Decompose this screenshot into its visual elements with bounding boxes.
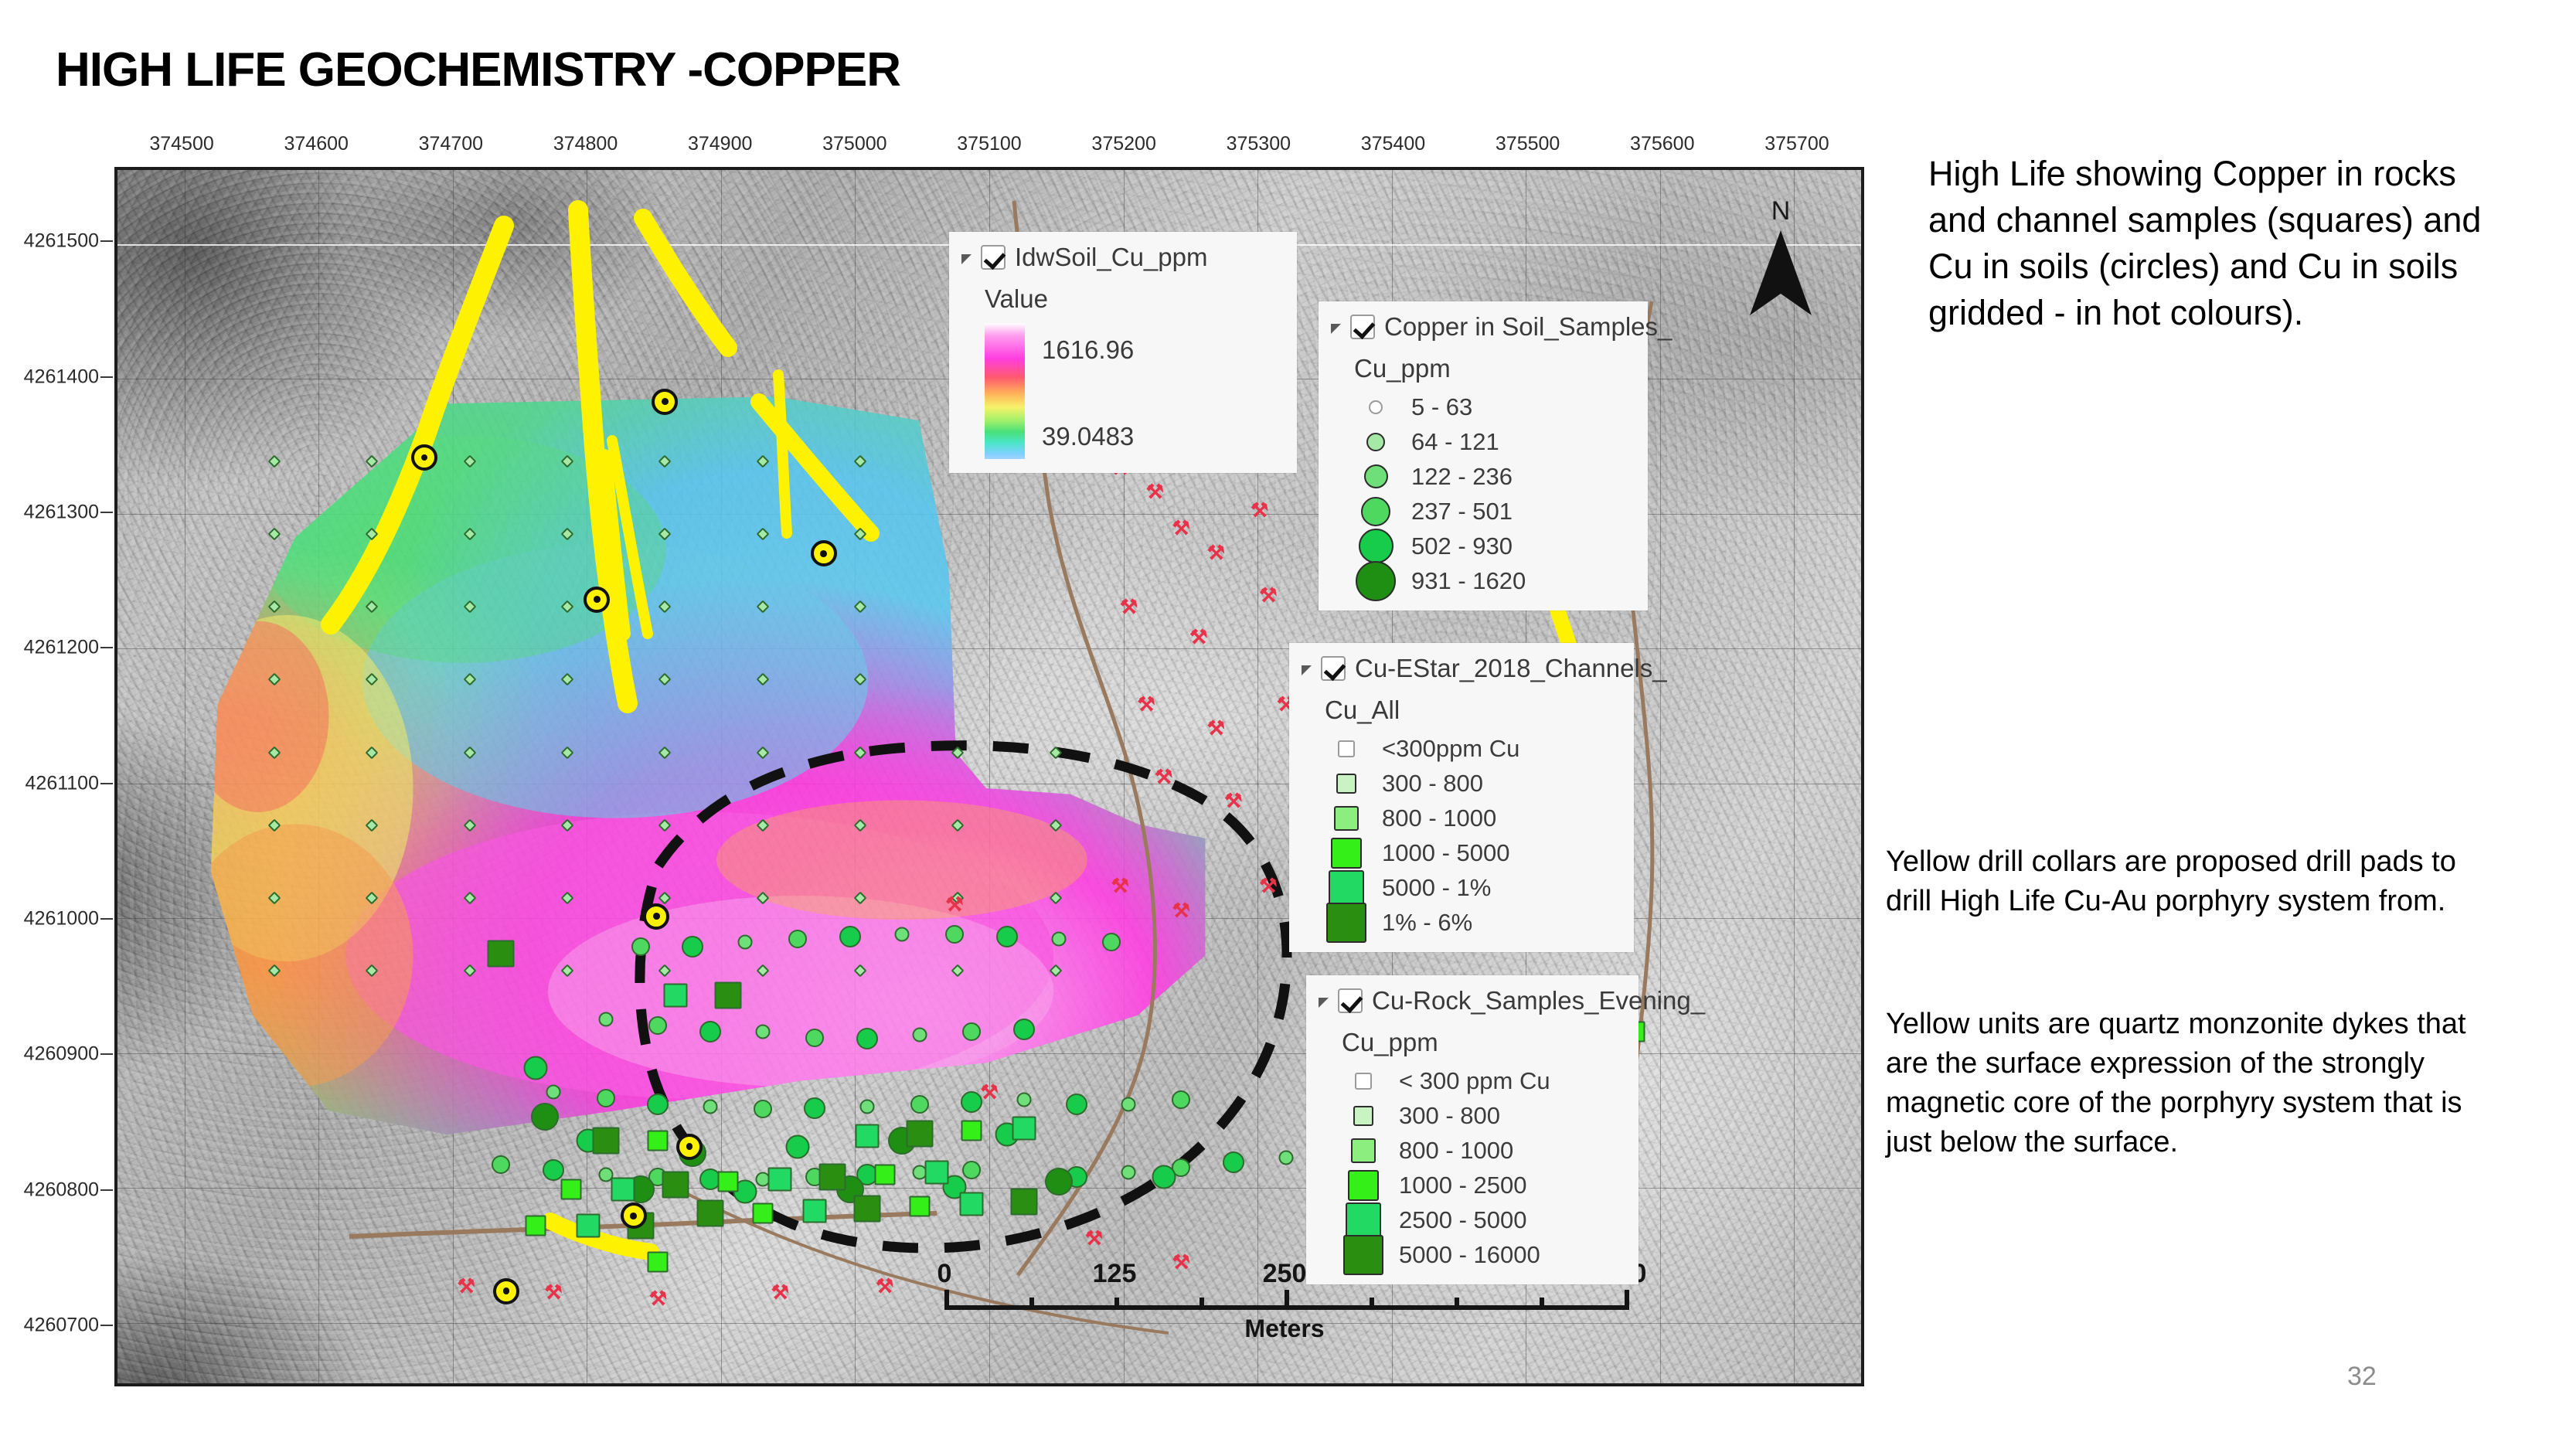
scale-bar-tick — [1114, 1298, 1119, 1310]
soil-sample-marker — [1121, 1165, 1136, 1179]
map-y-axis: 4261500426140042613004261200426110042610… — [15, 130, 114, 1397]
y-axis-tick-mark — [100, 918, 113, 920]
rock-sample-marker — [925, 1160, 949, 1184]
rock-sample-marker — [560, 1179, 581, 1199]
rock-sample-marker — [856, 1124, 880, 1148]
soil-sample-marker — [524, 1056, 548, 1080]
y-axis-tick-label: 4261500 — [24, 230, 99, 253]
legend-swatch — [1325, 903, 1368, 943]
legend-swatch — [1354, 561, 1397, 601]
legend-swatch — [1354, 529, 1397, 563]
prospect-symbol: ⚒ — [1251, 500, 1268, 520]
layer-name: IdwSoil_Cu_ppm — [1015, 243, 1207, 272]
soil-sample-marker — [1052, 932, 1067, 947]
legend-class-label: 931 - 1620 — [1411, 567, 1526, 595]
legend-class-row: 122 - 236 — [1354, 459, 1632, 494]
legend-square-symbol — [1343, 1235, 1383, 1275]
prospect-symbol: ⚒ — [1146, 481, 1164, 502]
legend-class-label: <300ppm Cu — [1382, 735, 1519, 763]
soil-sample-marker — [598, 1012, 613, 1027]
legend-circle-symbol — [1366, 433, 1385, 451]
soil-sample-marker — [543, 1159, 564, 1181]
x-axis-tick-label: 375600 — [1630, 133, 1694, 155]
soil-sample-marker — [699, 1021, 721, 1043]
rock-sample-marker — [906, 1120, 933, 1147]
soil-sample-marker — [531, 1103, 559, 1131]
legend-class-label: 502 - 930 — [1411, 532, 1513, 560]
scale-bar-tick — [1370, 1298, 1374, 1310]
layer-name: Cu-Rock_Samples_Evening_ — [1372, 986, 1705, 1015]
x-axis-tick-label: 374500 — [149, 133, 213, 155]
north-arrow: N — [1747, 198, 1815, 322]
soil-sample-marker — [631, 937, 650, 956]
rock-sample-marker — [648, 1252, 669, 1273]
soil-sample-marker — [1172, 1090, 1190, 1109]
rock-sample-marker — [663, 983, 687, 1007]
drill-collar-marker — [584, 587, 610, 613]
y-axis-tick-label: 4260700 — [24, 1315, 99, 1337]
rock-sample-marker — [961, 1121, 982, 1141]
legend-panel-idw-soil[interactable]: IdwSoil_Cu_ppm Value 1616.96 39.0483 — [949, 232, 1297, 473]
legend-class-row: 64 - 121 — [1354, 424, 1632, 459]
legend-swatch — [1325, 740, 1368, 757]
layer-visibility-checkbox[interactable] — [1321, 656, 1346, 681]
y-axis-tick-mark — [100, 512, 113, 513]
legend-swatch — [1354, 400, 1397, 414]
y-axis-tick-mark — [100, 1189, 113, 1191]
legend-circle-symbol — [1356, 561, 1396, 601]
scale-bar-value: 0 — [938, 1259, 952, 1289]
rock-sample-marker — [592, 1128, 619, 1155]
legend-class-label: 64 - 121 — [1411, 428, 1499, 456]
rock-sample-marker — [526, 1215, 546, 1236]
soil-sample-marker — [755, 1024, 770, 1039]
legend-swatch — [1354, 497, 1397, 526]
legend-class-row: 300 - 800 — [1325, 766, 1618, 801]
legend-circle-symbol — [1361, 497, 1390, 526]
x-axis-tick-label: 375700 — [1764, 133, 1829, 155]
legend-field-name: Cu_All — [1289, 688, 1634, 731]
x-axis-tick-label: 374900 — [688, 133, 752, 155]
legend-class-row: 1000 - 5000 — [1325, 835, 1618, 870]
legend-swatch — [1325, 806, 1368, 831]
legend-square-symbol — [1336, 774, 1356, 794]
legend-class-label: 5000 - 1% — [1382, 874, 1491, 902]
legend-panel-cu-estar-channels[interactable]: Cu-EStar_2018_Channels_ Cu_All <300ppm C… — [1289, 643, 1634, 952]
soil-sample-marker — [1121, 1097, 1136, 1111]
legend-header[interactable]: Cu-Rock_Samples_Evening_ — [1306, 975, 1638, 1020]
soil-sample-marker — [492, 1155, 510, 1174]
legend-swatch — [1342, 1170, 1385, 1201]
layer-visibility-checkbox[interactable] — [1350, 315, 1375, 339]
rock-sample-marker — [768, 1168, 792, 1192]
page-title: HIGH LIFE GEOCHEMISTRY -COPPER — [56, 43, 900, 97]
soil-sample-marker — [996, 926, 1018, 947]
prospect-symbol: ⚒ — [771, 1282, 789, 1302]
legend-class-row: 5000 - 1% — [1325, 870, 1618, 905]
legend-class-row: 800 - 1000 — [1342, 1133, 1623, 1168]
legend-class-row: <300ppm Cu — [1325, 731, 1618, 766]
ramp-high-value: 1616.96 — [1042, 335, 1134, 365]
legend-header[interactable]: Copper in Soil_Samples_ — [1319, 301, 1648, 346]
rock-sample-marker — [488, 940, 515, 968]
soil-sample-marker — [1045, 1168, 1073, 1196]
legend-circle-symbol — [1359, 529, 1393, 563]
soil-sample-marker — [1152, 1165, 1176, 1189]
prospect-symbol: ⚒ — [1172, 518, 1190, 538]
soil-sample-marker — [647, 1094, 669, 1115]
legend-swatch — [1325, 838, 1368, 869]
layer-name: Copper in Soil_Samples_ — [1384, 312, 1672, 342]
legend-header[interactable]: IdwSoil_Cu_ppm — [949, 232, 1297, 277]
rock-sample-marker — [960, 1192, 984, 1216]
x-axis-tick-label: 375000 — [822, 133, 886, 155]
legend-class-row: 931 - 1620 — [1354, 563, 1632, 598]
caption-text: High Life showing Copper in rocks and ch… — [1928, 151, 2493, 335]
legend-square-symbol — [1346, 1202, 1381, 1238]
collapse-triangle-icon[interactable] — [1331, 324, 1341, 334]
layer-visibility-checkbox[interactable] — [981, 245, 1006, 270]
dyke-note: Yellow units are quartz monzonite dykes … — [1886, 1005, 2473, 1162]
legend-class-row: 1000 - 2500 — [1342, 1168, 1623, 1202]
soil-sample-marker — [1017, 1092, 1032, 1107]
x-axis-tick-label: 374600 — [284, 133, 349, 155]
prospect-symbol: ⚒ — [458, 1276, 475, 1296]
scale-bar-tick — [1200, 1298, 1204, 1310]
x-axis-tick-label: 375100 — [957, 133, 1021, 155]
soil-sample-marker — [788, 930, 807, 948]
rock-sample-marker — [1011, 1188, 1038, 1215]
north-label: N — [1747, 198, 1815, 224]
y-axis-tick-label: 4261300 — [24, 502, 99, 524]
prospect-symbol: ⚒ — [1189, 627, 1207, 647]
legend-class-row: 5000 - 16000 — [1342, 1237, 1623, 1272]
legend-class-label: 300 - 800 — [1382, 770, 1483, 798]
rock-sample-marker — [752, 1203, 773, 1224]
soil-sample-marker — [910, 1095, 929, 1114]
legend-class-rows: < 300 ppm Cu300 - 800800 - 10001000 - 25… — [1306, 1063, 1638, 1284]
drill-collar-marker — [493, 1278, 519, 1304]
legend-square-symbol — [1331, 838, 1362, 869]
prospect-symbol: ⚒ — [1259, 585, 1277, 605]
legend-class-label: 5000 - 16000 — [1399, 1241, 1540, 1269]
x-axis-tick-label: 374700 — [419, 133, 483, 155]
legend-class-label: 122 - 236 — [1411, 463, 1513, 491]
prospect-symbol: ⚒ — [980, 1082, 998, 1102]
scale-bar-tick — [1455, 1298, 1459, 1310]
legend-class-row: < 300 ppm Cu — [1342, 1063, 1623, 1098]
y-axis-tick-label: 4261400 — [24, 366, 99, 388]
rock-sample-marker — [577, 1213, 601, 1237]
legend-class-label: 237 - 501 — [1411, 498, 1513, 526]
prospect-symbol: ⚒ — [876, 1276, 893, 1296]
legend-class-label: 2500 - 5000 — [1399, 1206, 1526, 1234]
rock-sample-marker — [697, 1200, 724, 1227]
legend-square-symbol — [1355, 1073, 1372, 1090]
soil-sample-marker — [961, 1091, 982, 1113]
rock-sample-marker — [611, 1177, 635, 1201]
y-axis-tick-mark — [100, 240, 113, 242]
soil-sample-marker — [839, 926, 861, 947]
legend-field-name: Value — [949, 277, 1297, 320]
legend-square-symbol — [1348, 1170, 1379, 1201]
legend-swatch — [1342, 1138, 1385, 1163]
soil-sample-marker — [912, 1028, 927, 1043]
soil-sample-marker — [754, 1100, 772, 1118]
soil-sample-marker — [1223, 1151, 1244, 1173]
legend-panel-cu-rock-samples[interactable]: Cu-Rock_Samples_Evening_ Cu_ppm < 300 pp… — [1306, 975, 1638, 1284]
page-number: 32 — [2347, 1362, 2377, 1392]
y-axis-tick-mark — [100, 1053, 113, 1055]
scale-bar-tick — [1540, 1298, 1544, 1310]
color-ramp-labels: 1616.96 39.0483 — [1042, 323, 1243, 459]
legend-swatch — [1342, 1106, 1385, 1126]
soil-sample-marker — [856, 1028, 878, 1049]
prospect-symbol: ⚒ — [1259, 876, 1277, 896]
scale-bar-value: 250 — [1263, 1259, 1307, 1289]
prospect-symbol: ⚒ — [1120, 597, 1138, 617]
legend-swatch — [1354, 464, 1397, 488]
rock-sample-marker — [662, 1171, 689, 1198]
x-axis-tick-label: 375500 — [1496, 133, 1560, 155]
prospect-symbol: ⚒ — [1172, 900, 1190, 920]
prospect-symbol: ⚒ — [1111, 876, 1129, 896]
slide-canvas: HIGH LIFE GEOCHEMISTRY -COPPER 374500374… — [0, 0, 2576, 1449]
prospect-symbol: ⚒ — [1155, 767, 1172, 787]
rock-sample-marker — [909, 1196, 930, 1216]
y-axis-tick-label: 4261000 — [24, 908, 99, 930]
soil-sample-marker — [785, 1134, 809, 1158]
soil-sample-marker — [597, 1089, 615, 1107]
legend-circle-symbol — [1364, 464, 1388, 488]
legend-class-rows: <300ppm Cu300 - 800800 - 10001000 - 5000… — [1289, 731, 1634, 952]
legend-swatch — [1325, 870, 1368, 906]
legend-square-symbol — [1329, 870, 1364, 906]
legend-class-label: < 300 ppm Cu — [1399, 1067, 1550, 1095]
soil-sample-marker — [945, 925, 964, 944]
legend-swatch — [1342, 1202, 1385, 1238]
layer-visibility-checkbox[interactable] — [1338, 988, 1363, 1013]
legend-swatch — [1342, 1073, 1385, 1090]
legend-class-row: 2500 - 5000 — [1342, 1202, 1623, 1237]
scale-bar-value: 125 — [1093, 1259, 1137, 1289]
north-arrow-icon — [1747, 227, 1815, 318]
legend-swatch — [1325, 774, 1368, 794]
legend-square-symbol — [1338, 740, 1355, 757]
drill-collar-marker — [643, 903, 669, 930]
legend-class-label: 1% - 6% — [1382, 909, 1472, 937]
rock-sample-marker — [854, 1195, 881, 1222]
y-axis-tick-mark — [100, 376, 113, 378]
legend-class-row: 502 - 930 — [1354, 529, 1632, 563]
legend-class-row: 300 - 800 — [1342, 1098, 1623, 1133]
soil-sample-marker — [738, 934, 753, 949]
drill-collar-note: Yellow drill collars are proposed drill … — [1886, 842, 2473, 921]
prospect-symbol: ⚒ — [1224, 791, 1242, 811]
y-axis-tick-label: 4261100 — [26, 772, 99, 794]
legend-circle-symbol — [1369, 400, 1383, 414]
legend-square-symbol — [1351, 1138, 1376, 1163]
soil-sample-marker — [804, 1097, 825, 1119]
prospect-symbol: ⚒ — [1207, 718, 1225, 738]
soil-sample-marker — [546, 1085, 561, 1100]
rock-sample-marker — [803, 1199, 827, 1223]
legend-field-name: Cu_ppm — [1306, 1020, 1638, 1063]
prospect-symbol: ⚒ — [945, 894, 963, 914]
legend-square-symbol — [1326, 903, 1366, 943]
legend-square-symbol — [1353, 1106, 1373, 1126]
legend-class-label: 800 - 1000 — [1399, 1137, 1513, 1165]
prospect-symbol: ⚒ — [649, 1288, 667, 1308]
legend-panel-copper-in-soil[interactable]: Copper in Soil_Samples_ Cu_ppm 5 - 6364 … — [1319, 301, 1648, 611]
collapse-triangle-icon[interactable] — [1302, 665, 1312, 675]
legend-class-row: 5 - 63 — [1354, 389, 1632, 424]
scale-bar-tick — [944, 1290, 949, 1310]
legend-class-rows: 5 - 6364 - 121122 - 236237 - 501502 - 93… — [1319, 389, 1648, 611]
prospect-symbol: ⚒ — [544, 1282, 562, 1302]
y-axis-tick-label: 4261200 — [24, 637, 99, 659]
y-axis-tick-mark — [100, 647, 113, 648]
soil-sample-marker — [648, 1016, 667, 1035]
legend-header[interactable]: Cu-EStar_2018_Channels_ — [1289, 643, 1634, 688]
rock-sample-marker — [717, 1172, 738, 1192]
legend-swatch — [1342, 1235, 1385, 1275]
soil-sample-marker — [805, 1029, 824, 1047]
soil-sample-marker — [1102, 933, 1121, 951]
color-ramp-swatch — [985, 323, 1025, 459]
x-axis-tick-label: 374800 — [553, 133, 618, 155]
x-axis-tick-label: 375300 — [1227, 133, 1291, 155]
rock-sample-marker — [648, 1131, 669, 1151]
soil-sample-marker — [682, 936, 703, 957]
map-x-axis: 3745003746003747003748003749003750003751… — [114, 130, 1864, 167]
rock-sample-marker — [1012, 1117, 1036, 1141]
soil-sample-marker — [703, 1100, 718, 1114]
rock-sample-marker — [818, 1164, 846, 1191]
soil-sample-marker — [860, 1100, 875, 1114]
legend-square-symbol — [1334, 806, 1359, 831]
ramp-low-value: 39.0483 — [1042, 422, 1134, 451]
prospect-symbol: ⚒ — [1137, 694, 1155, 714]
scale-bar-tick — [1029, 1298, 1034, 1310]
legend-class-label: 5 - 63 — [1411, 393, 1472, 421]
y-axis-tick-mark — [100, 1325, 113, 1326]
legend-class-label: 1000 - 2500 — [1399, 1172, 1526, 1199]
y-axis-tick-mark — [100, 783, 113, 784]
legend-class-label: 300 - 800 — [1399, 1102, 1500, 1130]
legend-class-label: 1000 - 5000 — [1382, 839, 1509, 867]
soil-sample-marker — [962, 1161, 981, 1179]
y-axis-tick-label: 4260900 — [24, 1043, 99, 1066]
rock-sample-marker — [714, 981, 741, 1009]
soil-sample-marker — [1066, 1094, 1087, 1115]
drill-collar-marker — [676, 1134, 703, 1160]
legend-swatch — [1354, 433, 1397, 451]
soil-sample-marker — [962, 1022, 981, 1041]
legend-class-row: 237 - 501 — [1354, 494, 1632, 529]
scale-bar-tick — [1285, 1290, 1289, 1310]
y-axis-tick-label: 4260800 — [24, 1179, 99, 1201]
legend-class-row: 1% - 6% — [1325, 905, 1618, 940]
scale-bar-unit: Meters — [944, 1315, 1625, 1343]
soil-sample-marker — [895, 927, 910, 942]
drill-collar-marker — [652, 389, 678, 415]
legend-field-name: Cu_ppm — [1319, 346, 1648, 389]
prospect-symbol: ⚒ — [1085, 1228, 1103, 1248]
rock-sample-marker — [874, 1164, 895, 1185]
legend-class-label: 800 - 1000 — [1382, 804, 1496, 832]
x-axis-tick-label: 375400 — [1361, 133, 1425, 155]
x-axis-tick-label: 375200 — [1091, 133, 1155, 155]
scale-bar-graphic — [944, 1290, 1625, 1310]
collapse-triangle-icon[interactable] — [1319, 998, 1329, 1008]
soil-sample-marker — [1013, 1019, 1035, 1040]
collapse-triangle-icon[interactable] — [961, 254, 972, 264]
scale-bar-tick — [1625, 1290, 1629, 1310]
prospect-symbol: ⚒ — [1207, 543, 1225, 563]
legend-class-row: 800 - 1000 — [1325, 801, 1618, 835]
drill-collar-marker — [621, 1202, 647, 1229]
drill-collar-marker — [811, 540, 837, 566]
soil-sample-marker — [1278, 1150, 1293, 1165]
layer-name: Cu-EStar_2018_Channels_ — [1355, 654, 1667, 683]
drill-collar-marker — [411, 444, 437, 471]
